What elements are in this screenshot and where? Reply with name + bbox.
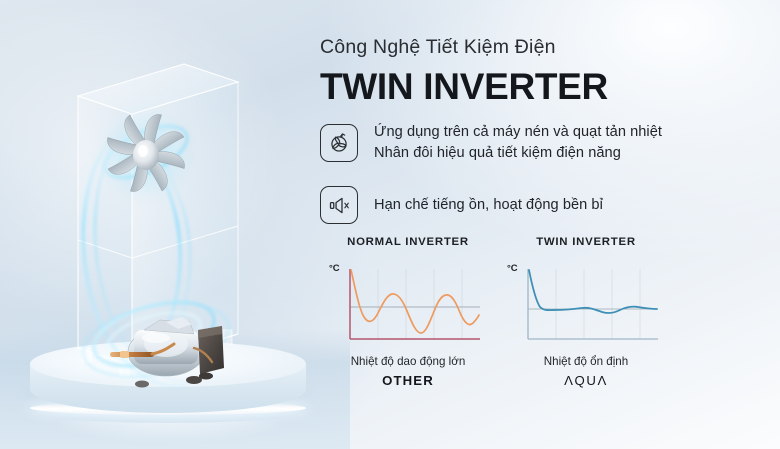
promo-banner: Công Nghệ Tiết Kiệm Điện TWIN INVERTER Ứ… [0, 0, 780, 449]
chart-twin-inverter: TWIN INVERTER °C [506, 236, 666, 388]
feature-text-quiet: Hạn chế tiếng ồn, hoạt động bền bỉ [374, 195, 603, 216]
y-axis-unit-label: °C [507, 263, 518, 274]
feature-line-1: Ứng dụng trên cả máy nén và quạt tản nhi… [374, 122, 662, 143]
compressor-fan-icon [320, 124, 358, 162]
gridlines [378, 269, 462, 339]
chart-brand-aqua: ΛQUΛ [506, 373, 666, 388]
plot-twin-inverter: °C [506, 265, 666, 347]
chart-brand-other: OTHER [328, 373, 488, 388]
gridlines [556, 269, 640, 339]
kicker-text: Công Nghệ Tiết Kiệm Điện [320, 36, 556, 59]
chart-title-twin: TWIN INVERTER [506, 236, 666, 248]
chart-caption-normal: Nhiệt độ dao động lớn [328, 355, 488, 368]
comparison-charts: NORMAL INVERTER °C [320, 236, 670, 396]
speaker-mute-icon [320, 186, 358, 224]
feature-text-efficiency: Ứng dụng trên cả máy nén và quạt tản nhi… [374, 122, 662, 163]
product-scene [0, 0, 330, 449]
chart-normal-inverter: NORMAL INVERTER °C [328, 236, 488, 388]
feature-row-quiet: Hạn chế tiếng ồn, hoạt động bền bỉ [320, 186, 603, 224]
metallic-fan-icon [103, 110, 189, 196]
chart-title-normal: NORMAL INVERTER [328, 236, 488, 248]
content-panel: Công Nghệ Tiết Kiệm Điện TWIN INVERTER Ứ… [316, 0, 780, 449]
plot-normal-inverter: °C [328, 265, 488, 347]
y-axis-unit-label: °C [329, 263, 340, 274]
feature-line-2: Nhân đôi hiệu quả tiết kiệm điện năng [374, 143, 662, 164]
compressor-unit [108, 300, 236, 396]
feature-line-1: Hạn chế tiếng ồn, hoạt động bền bỉ [374, 195, 603, 216]
feature-row-efficiency: Ứng dụng trên cả máy nén và quạt tản nhi… [320, 122, 662, 163]
page-title: TWIN INVERTER [320, 66, 608, 108]
chart-caption-twin: Nhiệt độ ổn định [506, 355, 666, 368]
